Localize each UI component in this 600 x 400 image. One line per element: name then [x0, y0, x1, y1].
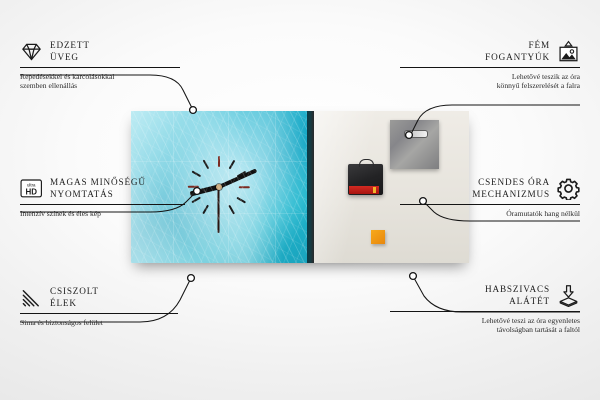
feature-title-line-2: MECHANIZMUS — [472, 189, 550, 199]
feature-metal-handles: FÉM FOGANTYÚK Lehetővé teszik az óra kön… — [400, 40, 580, 91]
feature-rule — [400, 204, 580, 205]
feature-rule — [20, 67, 180, 68]
clock-glass-edge — [307, 111, 314, 263]
feature-desc-line-2: szemben ellenállás — [20, 81, 77, 90]
feature-title-line-1: EDZETT — [50, 40, 90, 50]
feature-high-quality-print: ultra HD MAGAS MINŐSÉGŰ NYOMTATÁS Intenz… — [20, 177, 205, 218]
clock-second-hand — [218, 187, 220, 233]
foam-pad-icon — [557, 284, 580, 307]
clock-mechanism-part — [348, 164, 383, 195]
feature-title-line-1: FÉM — [529, 40, 550, 50]
picture-hanger-icon — [557, 40, 580, 63]
feature-desc-line-1: Lehetővé teszik az óra — [512, 72, 580, 81]
feature-polished-edges: CSISZOLT ÉLEK Sima és biztonságos felüle… — [20, 286, 195, 327]
feature-title-line-1: CSENDES ÓRA — [478, 177, 550, 187]
diamond-icon — [20, 40, 43, 63]
feature-title-line-2: FOGANTYÚK — [485, 52, 550, 62]
feature-desc-line-1: Repedésekkel és karcolásokkal — [20, 72, 114, 81]
feature-tempered-glass: EDZETT ÜVEG Repedésekkel és karcolásokka… — [20, 40, 200, 91]
infographic-canvas: EDZETT ÜVEG Repedésekkel és karcolásokka… — [0, 0, 600, 400]
feature-title-line-1: CSISZOLT — [50, 286, 99, 296]
metal-hanger-part — [390, 120, 439, 169]
clock-center-cap — [216, 184, 222, 190]
polished-edges-icon — [20, 286, 43, 309]
feature-desc-line-1: Sima és biztonságos felület — [20, 318, 103, 327]
ultra-hd-icon: ultra HD — [20, 177, 43, 200]
feature-silent-mechanism: CSENDES ÓRA MECHANIZMUS Óramutatók hang … — [400, 177, 580, 218]
feature-title-line-2: ÜVEG — [50, 52, 79, 62]
feature-desc-line-2: távolságban tartását a faltól — [497, 325, 580, 334]
feature-title-line-1: MAGAS MINŐSÉGŰ — [50, 177, 146, 187]
feature-title-line-2: ALÁTÉT — [509, 296, 550, 306]
foam-pad-part — [371, 230, 385, 244]
feature-rule — [390, 311, 580, 312]
feature-title-line-1: HABSZIVACS — [485, 284, 550, 294]
feature-desc-line-2: könnyű felszerelését a falra — [497, 81, 580, 90]
feature-rule — [20, 313, 178, 314]
gear-icon — [557, 177, 580, 200]
feature-foam-backing: HABSZIVACS ALÁTÉT Lehetővé teszi az óra … — [390, 284, 580, 335]
feature-desc-line-1: Intenzív színek és éles kép — [20, 209, 101, 218]
feature-desc-line-1: Lehetővé teszi az óra egyenletes — [482, 316, 580, 325]
clock-minute-hand — [218, 168, 257, 188]
feature-desc-line-1: Óramutatók hang nélkül — [506, 209, 580, 218]
feature-rule — [400, 67, 580, 68]
feature-rule — [20, 204, 185, 205]
feature-title-line-2: ÉLEK — [50, 298, 77, 308]
feature-title-line-2: NYOMTATÁS — [50, 189, 114, 199]
svg-text:HD: HD — [25, 187, 37, 196]
